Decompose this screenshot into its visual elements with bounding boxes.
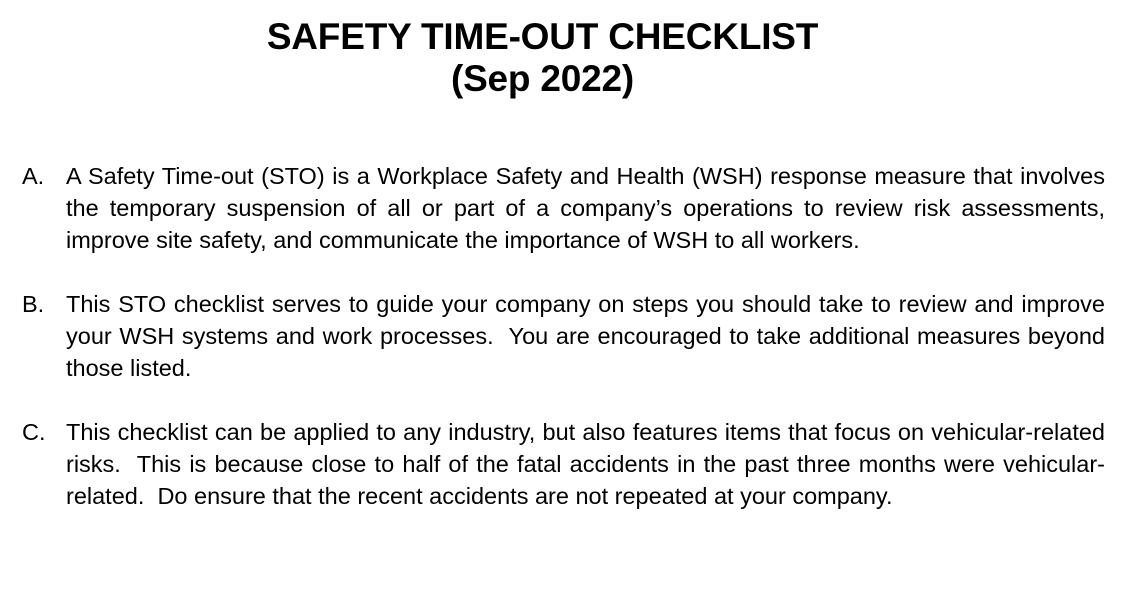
- title-line-main: SAFETY TIME-OUT CHECKLIST: [24, 16, 1061, 58]
- list-item: C. This checklist can be applied to any …: [22, 416, 1105, 512]
- checklist-intro-list: A. A Safety Time-out (STO) is a Workplac…: [22, 160, 1105, 512]
- list-item-text: A Safety Time-out (STO) is a Workplace S…: [66, 160, 1105, 256]
- page-title: SAFETY TIME-OUT CHECKLIST (Sep 2022): [24, 16, 1061, 100]
- list-item: B. This STO checklist serves to guide yo…: [22, 288, 1105, 384]
- document-page: SAFETY TIME-OUT CHECKLIST (Sep 2022) A. …: [0, 0, 1129, 596]
- list-item-marker: B.: [22, 288, 44, 320]
- title-line-date: (Sep 2022): [24, 58, 1061, 100]
- list-item-text: This checklist can be applied to any ind…: [66, 416, 1105, 512]
- list-item-marker: C.: [22, 416, 46, 448]
- list-item: A. A Safety Time-out (STO) is a Workplac…: [22, 160, 1105, 256]
- list-item-marker: A.: [22, 160, 44, 192]
- list-item-text: This STO checklist serves to guide your …: [66, 288, 1105, 384]
